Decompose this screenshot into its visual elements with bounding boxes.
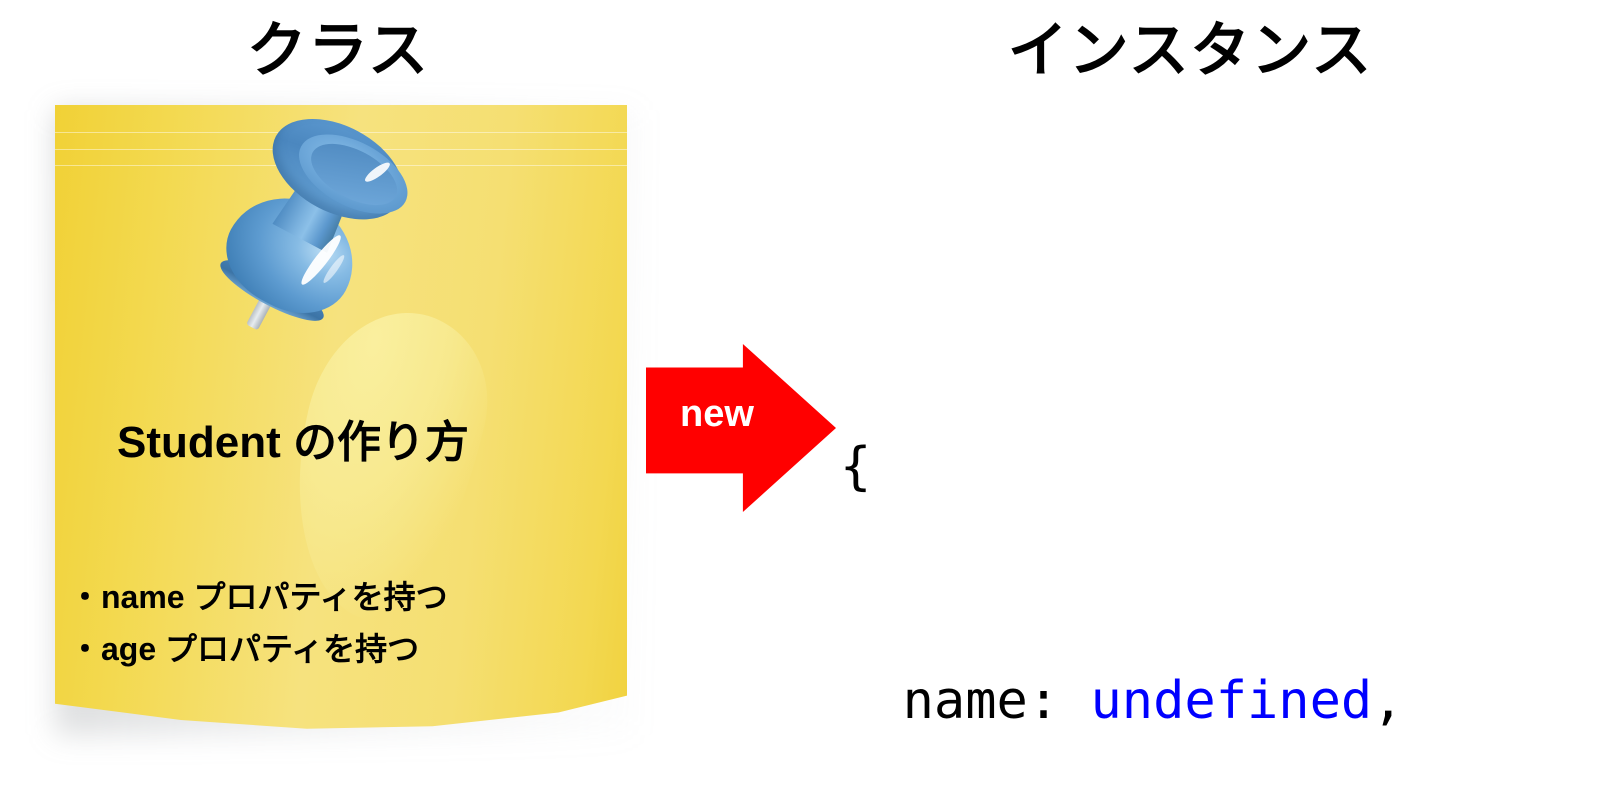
- sticky-note-paper: Student の作り方 ・name プロパティを持つ ・age プロパティを持…: [55, 105, 627, 730]
- note-bullet-item: ・name プロパティを持つ: [69, 571, 659, 623]
- code-line-open-brace: {: [840, 428, 1404, 506]
- code-comma: ,: [1372, 671, 1403, 731]
- sticky-note: Student の作り方 ・name プロパティを持つ ・age プロパティを持…: [40, 100, 650, 780]
- diagram-canvas: クラス インスタンス Student の作り方: [0, 0, 1600, 800]
- note-bullet-list: ・name プロパティを持つ ・age プロパティを持つ: [69, 571, 659, 675]
- heading-class: クラス: [0, 16, 676, 86]
- new-arrow: new: [646, 344, 836, 512]
- code-value-name: undefined: [1090, 671, 1372, 731]
- code-line-name: name: undefined,: [840, 662, 1404, 740]
- arrow-label: new: [662, 392, 772, 436]
- note-bullet-item: ・age プロパティを持つ: [69, 623, 659, 675]
- instance-code-block: { name: undefined, age: undefined, }: [840, 272, 1404, 800]
- code-key-name: name:: [903, 671, 1091, 731]
- code-indent: [840, 671, 903, 731]
- pushpin-icon: [151, 82, 446, 423]
- heading-instance: インスタンス: [840, 16, 1540, 86]
- note-title: Student の作り方: [117, 415, 647, 471]
- code-open-brace: {: [840, 437, 871, 497]
